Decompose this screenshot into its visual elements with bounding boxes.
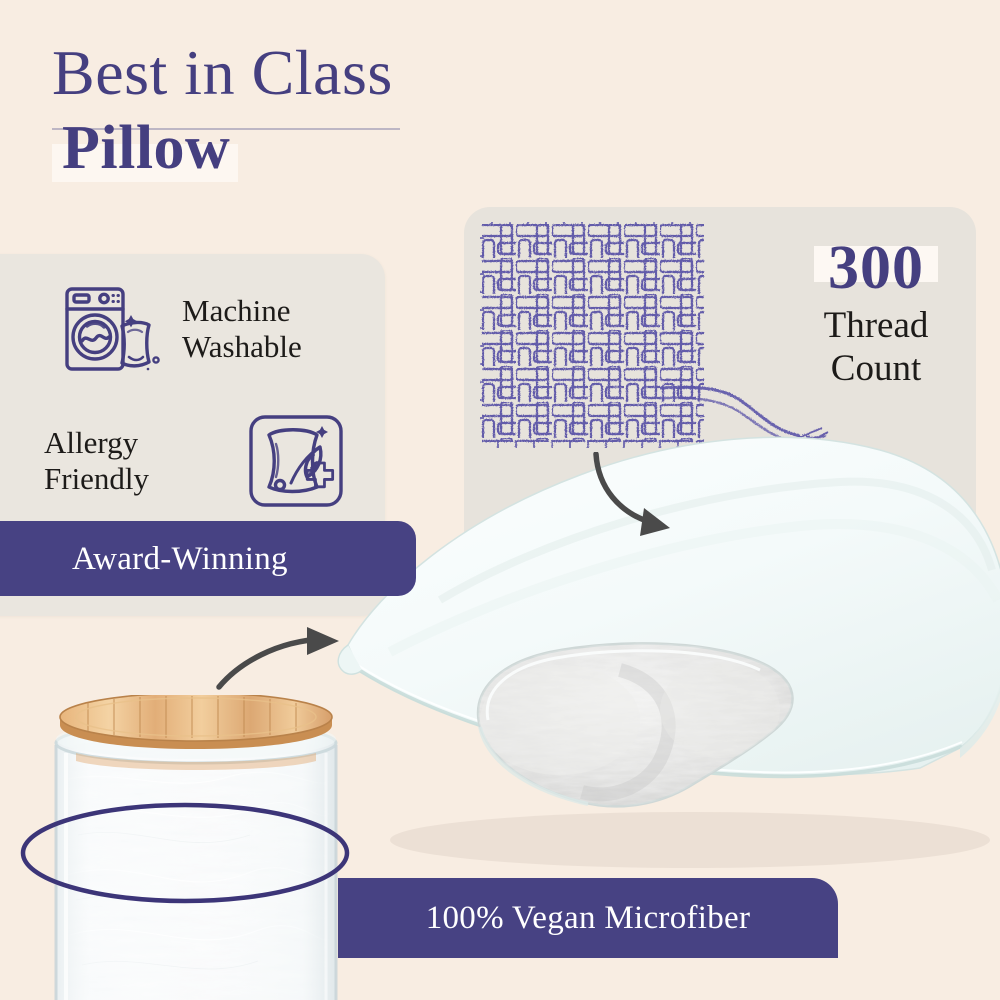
feature-allergy-friendly-label-line2: Friendly: [44, 461, 229, 497]
thread-count-number-wrap: 300: [822, 236, 930, 300]
vegan-microfiber-banner: 100% Vegan Microfiber: [338, 878, 838, 958]
headline-line-2: Pillow: [62, 114, 230, 182]
headline-line-2-wrap: Pillow: [52, 114, 238, 182]
feature-allergy-friendly-label-line1: Allergy: [44, 425, 229, 461]
feature-machine-washable-label: Machine Washable: [182, 293, 302, 365]
thread-count-label-line1: Thread: [778, 304, 974, 347]
feature-machine-washable-label-line2: Washable: [182, 329, 302, 365]
arrow-jar-to-pillow-icon: [215, 625, 365, 695]
headline: Best in Class Pillow: [52, 38, 572, 182]
headline-line-1: Best in Class: [52, 38, 572, 108]
feature-machine-washable-label-line1: Machine: [182, 293, 302, 329]
thread-count-block: 300 Thread Count: [778, 236, 974, 390]
vegan-microfiber-label: 100% Vegan Microfiber: [426, 899, 751, 937]
award-winning-label: Award-Winning: [72, 540, 288, 578]
washing-machine-pillow-icon: [60, 277, 164, 381]
award-winning-banner: Award-Winning: [0, 521, 416, 596]
infographic-canvas: 300 Thread Count: [0, 0, 1000, 1000]
microfiber-jar-image: [18, 695, 368, 1000]
feature-machine-washable: Machine Washable: [60, 274, 410, 384]
feature-allergy-friendly-label: Allergy Friendly: [44, 425, 229, 497]
thread-count-number: 300: [828, 236, 924, 300]
thread-count-label-line2: Count: [778, 347, 974, 390]
arrow-weave-to-pillow-icon: [592, 452, 702, 547]
thread-count-label: Thread Count: [778, 304, 974, 390]
